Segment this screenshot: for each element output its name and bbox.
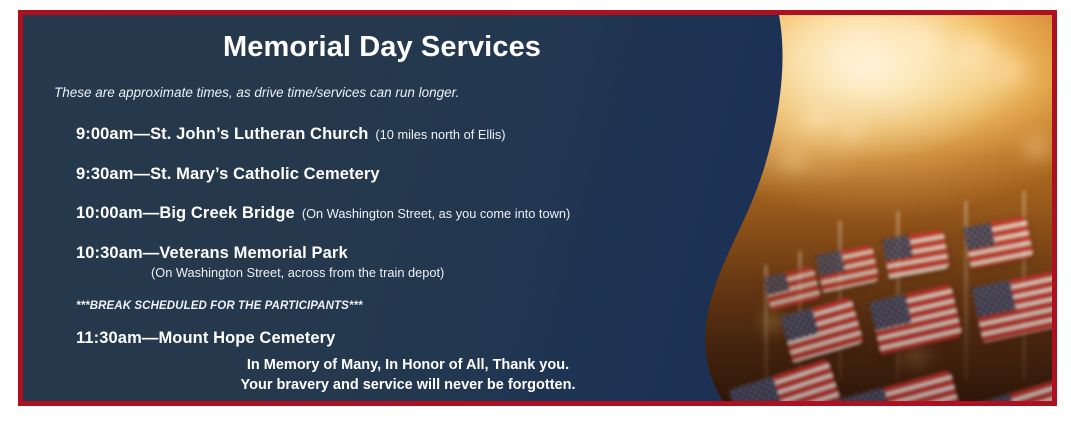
flag-cloth bbox=[882, 229, 950, 279]
closing-line-1: In Memory of Many, In Honor of All, Than… bbox=[83, 356, 733, 376]
service-item: 9:00am—St. John’s Lutheran Church(10 mil… bbox=[76, 125, 506, 144]
flag-cloth bbox=[963, 216, 1034, 269]
flag-canton bbox=[780, 308, 818, 342]
flag-cloth bbox=[830, 370, 970, 401]
flag-cloth bbox=[729, 358, 848, 401]
flag-canton bbox=[869, 294, 912, 331]
service-headline: 11:30am—Mount Hope Cemetery bbox=[76, 329, 335, 347]
flag-canton bbox=[729, 376, 784, 401]
service-headline: 9:00am—St. John’s Lutheran Church bbox=[76, 125, 368, 143]
american-flag bbox=[954, 372, 1052, 401]
service-item: 10:00am—Big Creek Bridge(On Washington S… bbox=[76, 204, 570, 223]
flag-canton bbox=[830, 388, 894, 401]
bokeh-highlight bbox=[991, 55, 1025, 85]
banner-text-content: Memorial Day Services These are approxim… bbox=[23, 15, 723, 401]
closing-message: In Memory of Many, In Honor of All, Than… bbox=[83, 356, 733, 395]
bokeh-highlight bbox=[841, 119, 863, 137]
flag-canton bbox=[882, 235, 913, 261]
american-flag bbox=[815, 244, 880, 293]
banner-inner: Memorial Day Services These are approxim… bbox=[23, 15, 1052, 401]
closing-line-2: Your bravery and service will never be f… bbox=[83, 376, 733, 396]
flag-cloth bbox=[780, 296, 864, 363]
service-detail: (10 miles north of Ellis) bbox=[368, 127, 505, 142]
flag-cloth bbox=[869, 283, 963, 355]
american-flag bbox=[882, 229, 950, 279]
flag-cloth bbox=[954, 372, 1052, 401]
service-item: 10:30am—Veterans Memorial Park (On Washi… bbox=[76, 244, 444, 281]
service-item: 11:30am—Mount Hope Cemetery bbox=[76, 329, 335, 348]
service-detail: (On Washington Street, across from the t… bbox=[76, 263, 444, 281]
flag-canton bbox=[763, 272, 790, 295]
flag-canton bbox=[963, 222, 995, 250]
service-headline: 10:00am—Big Creek Bridge bbox=[76, 204, 295, 222]
approximate-times-note: These are approximate times, as drive ti… bbox=[54, 85, 459, 100]
american-flag bbox=[830, 370, 970, 401]
flag-pole bbox=[1023, 191, 1025, 381]
flag-canton bbox=[971, 280, 1015, 318]
flag-cloth bbox=[971, 270, 1052, 343]
american-flag bbox=[729, 358, 848, 401]
bokeh-highlight bbox=[1023, 135, 1051, 159]
american-flag bbox=[971, 270, 1052, 343]
american-flag bbox=[780, 296, 864, 363]
bokeh-highlight bbox=[765, 315, 781, 329]
american-flag bbox=[963, 216, 1034, 269]
flag-pole bbox=[799, 251, 801, 381]
flag-canton bbox=[954, 394, 1023, 401]
flag-pole bbox=[965, 201, 967, 381]
service-headline: 9:30am—St. Mary’s Catholic Cemetery bbox=[76, 165, 380, 183]
bokeh-highlight bbox=[783, 151, 803, 169]
bokeh-highlight bbox=[903, 345, 927, 365]
flag-pole bbox=[839, 221, 841, 381]
flag-cloth bbox=[815, 244, 880, 293]
service-headline: 10:30am—Veterans Memorial Park bbox=[76, 244, 348, 262]
american-flag bbox=[763, 265, 822, 311]
flag-cloth bbox=[763, 265, 822, 311]
bokeh-highlight bbox=[835, 33, 889, 79]
memorial-day-banner: Memorial Day Services These are approxim… bbox=[18, 10, 1057, 406]
bokeh-highlight bbox=[805, 107, 831, 129]
bokeh-highlight bbox=[953, 37, 993, 73]
flag-canton bbox=[815, 251, 844, 276]
bokeh-highlight bbox=[895, 25, 941, 65]
break-note: ***BREAK SCHEDULED FOR THE PARTICIPANTS*… bbox=[76, 300, 363, 312]
service-detail: (On Washington Street, as you come into … bbox=[295, 206, 570, 221]
flag-pole bbox=[765, 265, 767, 385]
page-title: Memorial Day Services bbox=[23, 31, 741, 64]
flag-pole bbox=[897, 211, 899, 381]
american-flag bbox=[869, 283, 963, 355]
service-item: 9:30am—St. Mary’s Catholic Cemetery bbox=[76, 165, 380, 184]
